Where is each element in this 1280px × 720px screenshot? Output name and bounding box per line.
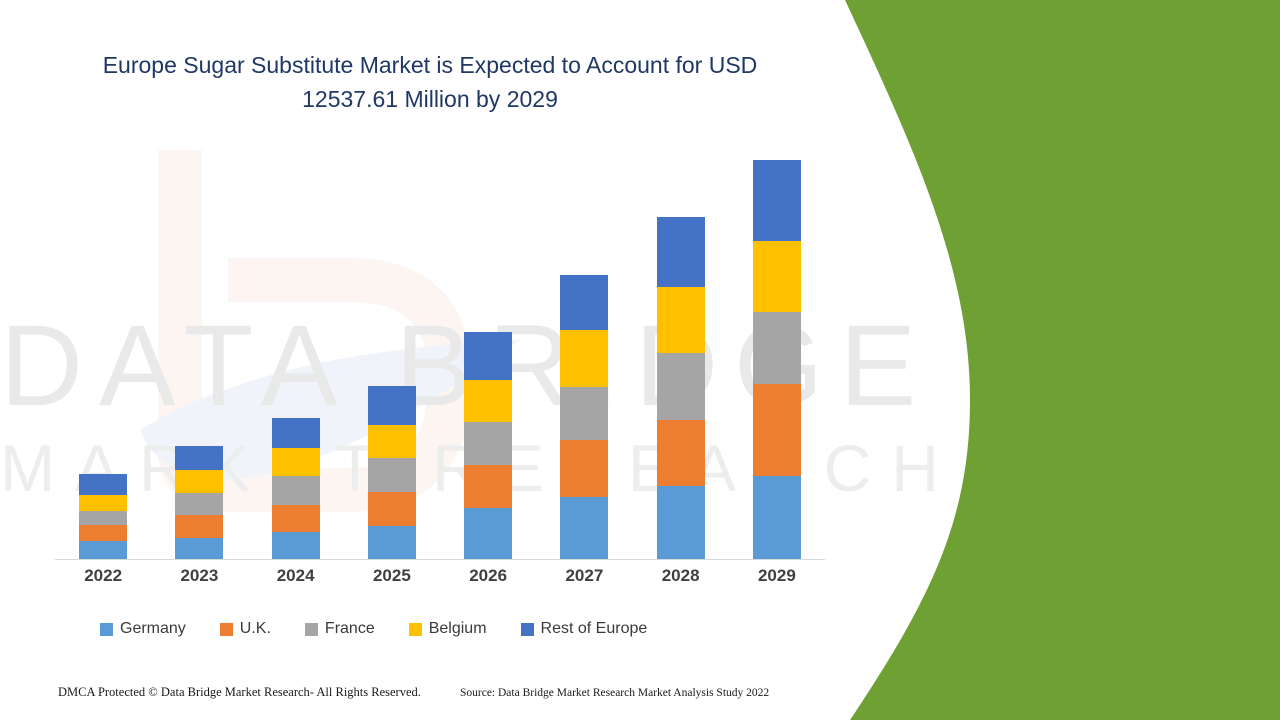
bar-segment-france — [464, 422, 512, 465]
legend-label: Rest of Europe — [541, 620, 648, 638]
page-title: Europe Sugar Substitute Market is Expect… — [60, 48, 800, 116]
bar-segment-u-k — [464, 465, 512, 508]
legend-swatch-icon — [305, 623, 318, 636]
bar-segment-france — [175, 493, 223, 515]
bar-2025[interactable] — [368, 386, 416, 559]
bar-segment-rest-of-europe — [753, 160, 801, 241]
legend-swatch-icon — [521, 623, 534, 636]
x-axis-label-2027: 2027 — [536, 566, 632, 586]
bar-segment-rest-of-europe — [368, 386, 416, 425]
bar-segment-rest-of-europe — [560, 275, 608, 330]
bar-segment-germany — [175, 538, 223, 559]
footer-copyright: DMCA Protected © Data Bridge Market Rese… — [58, 685, 421, 700]
bar-segment-germany — [272, 532, 320, 559]
infographic-canvas: DATA BRIDGE MARKET RESEARCH Europe Sugar… — [0, 0, 1280, 720]
bar-segment-u-k — [368, 492, 416, 526]
x-axis-label-2026: 2026 — [440, 566, 536, 586]
bar-2026[interactable] — [464, 332, 512, 559]
x-axis-label-2028: 2028 — [633, 566, 729, 586]
bar-segment-france — [272, 476, 320, 505]
bar-segment-belgium — [560, 330, 608, 388]
x-axis-line — [55, 559, 825, 560]
bar-segment-germany — [657, 486, 705, 559]
legend-label: Germany — [120, 620, 186, 638]
x-axis-label-2024: 2024 — [248, 566, 344, 586]
plot-area — [55, 160, 825, 560]
legend-item-belgium[interactable]: Belgium — [409, 620, 487, 638]
bar-segment-rest-of-europe — [657, 217, 705, 287]
legend-item-u-k[interactable]: U.K. — [220, 620, 271, 638]
x-axis-label-2025: 2025 — [344, 566, 440, 586]
chart-panel: DATA BRIDGE MARKET RESEARCH Europe Sugar… — [0, 0, 880, 720]
legend-item-france[interactable]: France — [305, 620, 375, 638]
bar-segment-u-k — [560, 440, 608, 498]
bar-segment-germany — [464, 508, 512, 559]
bar-segment-france — [657, 353, 705, 420]
legend-swatch-icon — [409, 623, 422, 636]
bar-2024[interactable] — [272, 418, 320, 559]
legend-swatch-icon — [220, 623, 233, 636]
bar-segment-u-k — [175, 515, 223, 537]
bar-segment-france — [79, 511, 127, 525]
bar-segment-rest-of-europe — [272, 418, 320, 448]
bar-segment-belgium — [368, 425, 416, 458]
bar-segment-germany — [79, 541, 127, 559]
legend-label: France — [325, 620, 375, 638]
bar-segment-u-k — [753, 384, 801, 476]
bar-segment-belgium — [464, 380, 512, 423]
bar-segment-germany — [368, 526, 416, 559]
legend-label: U.K. — [240, 620, 271, 638]
bar-segment-belgium — [175, 470, 223, 494]
footer-source: Source: Data Bridge Market Research Mark… — [460, 687, 769, 699]
x-axis-label-2029: 2029 — [729, 566, 825, 586]
bar-segment-belgium — [272, 448, 320, 476]
bar-segment-france — [753, 312, 801, 385]
x-axis-labels: 20222023202420252026202720282029 — [55, 566, 825, 594]
bar-segment-belgium — [657, 287, 705, 353]
bar-segment-rest-of-europe — [464, 332, 512, 380]
x-axis-label-2022: 2022 — [55, 566, 151, 586]
bar-2029[interactable] — [753, 160, 801, 559]
bar-segment-rest-of-europe — [175, 446, 223, 470]
chart-legend: GermanyU.K.FranceBelgiumRest of Europe — [100, 617, 800, 641]
brand-panel-shape — [820, 0, 1280, 720]
bar-segment-france — [368, 458, 416, 492]
brand-panel: DATA BRIDGE MARKET RESEARCH Europe Sugar… — [820, 0, 1280, 720]
bar-segment-u-k — [272, 505, 320, 533]
bar-segment-france — [560, 387, 608, 439]
bar-2027[interactable] — [560, 275, 608, 559]
stacked-bar-chart — [55, 160, 825, 560]
bar-2023[interactable] — [175, 446, 223, 559]
bar-2022[interactable] — [79, 474, 127, 559]
bar-segment-u-k — [79, 525, 127, 541]
bar-segment-belgium — [753, 241, 801, 311]
bar-2028[interactable] — [657, 217, 705, 559]
bar-segment-u-k — [657, 420, 705, 486]
legend-swatch-icon — [100, 623, 113, 636]
x-axis-label-2023: 2023 — [151, 566, 247, 586]
bar-segment-rest-of-europe — [79, 474, 127, 495]
bar-segment-belgium — [79, 495, 127, 511]
bar-segment-germany — [753, 476, 801, 559]
legend-item-germany[interactable]: Germany — [100, 620, 186, 638]
bar-segment-germany — [560, 497, 608, 559]
legend-item-rest-of-europe[interactable]: Rest of Europe — [521, 620, 648, 638]
legend-label: Belgium — [429, 620, 487, 638]
